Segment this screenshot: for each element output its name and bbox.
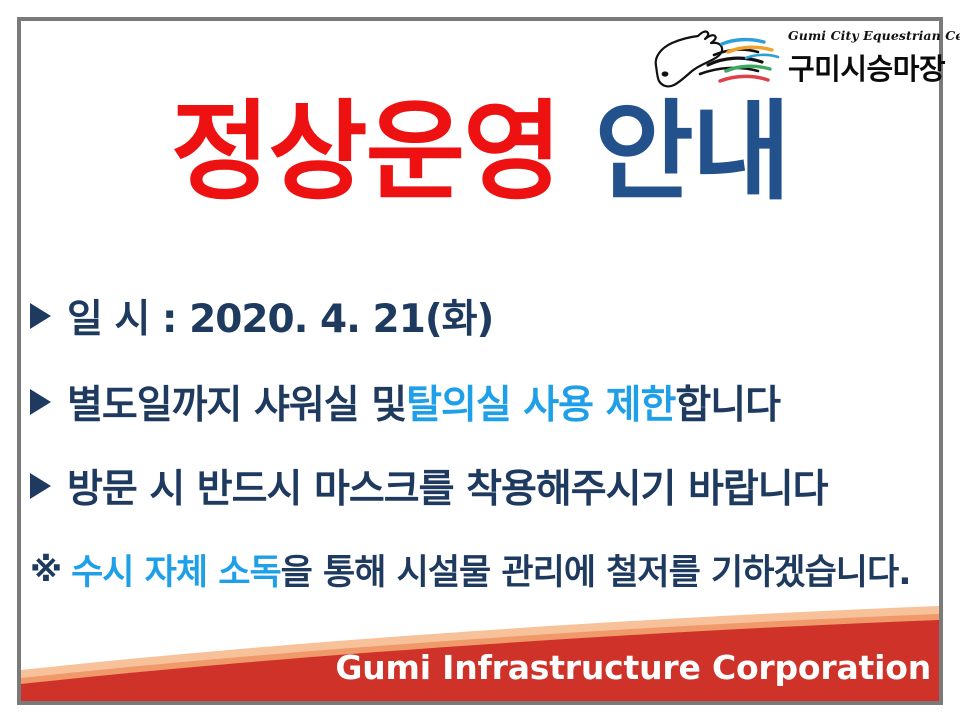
notice-body: 일 시 : 2020. 4. 21(화) 별도일까지 샤워실 및 탈의실 사용 … [30, 288, 936, 595]
poster-canvas: Gumi City Equestrian Center 구미시승마장 정상운영안… [0, 0, 960, 720]
notice-line-date: 일 시 : 2020. 4. 21(화) [30, 288, 936, 344]
notice-line-disinfection-text: 을 통해 시설물 관리에 철저를 기하겠습니다. [281, 544, 911, 595]
logo-text-block: Gumi City Equestrian Center 구미시승마장 [788, 28, 938, 88]
poster-headline: 정상운영안내 [0, 96, 960, 209]
triangle-bullet-icon [30, 303, 51, 329]
logo-english-name: Gumi City Equestrian Center [788, 28, 938, 43]
notice-line-shower: 별도일까지 샤워실 및 탈의실 사용 제한 합니다 [30, 374, 936, 430]
notice-line-mask: 방문 시 반드시 마스크를 착용해주시기 바랍니다 [30, 458, 936, 514]
equestrian-center-logo: Gumi City Equestrian Center 구미시승마장 [648, 24, 933, 98]
notice-line-disinfection: ※ 수시 자체 소독 을 통해 시설물 관리에 철저를 기하겠습니다. [30, 544, 936, 595]
notice-line-mask-text: 방문 시 반드시 마스크를 착용해주시기 바랍니다 [67, 458, 828, 514]
notice-line-disinfection-highlight: 수시 자체 소독 [71, 544, 281, 595]
headline-blue-text: 안내 [594, 90, 789, 215]
asterisk-bullet-icon: ※ [30, 550, 61, 589]
horse-head-icon [648, 24, 798, 98]
notice-line-shower-highlight: 탈의실 사용 제한 [406, 374, 675, 430]
triangle-bullet-icon [30, 473, 51, 499]
headline-red-text: 정상운영 [171, 90, 560, 215]
poster-footer: Gumi Infrastructure Corporation [21, 592, 939, 701]
footer-organization-name: Gumi Infrastructure Corporation [335, 648, 931, 687]
notice-line-shower-text-b: 합니다 [675, 374, 780, 430]
notice-line-shower-text-a: 별도일까지 샤워실 및 [67, 374, 406, 430]
triangle-bullet-icon [30, 389, 51, 415]
logo-korean-name: 구미시승마장 [788, 46, 938, 88]
notice-line-date-text: 일 시 : 2020. 4. 21(화) [67, 288, 493, 344]
